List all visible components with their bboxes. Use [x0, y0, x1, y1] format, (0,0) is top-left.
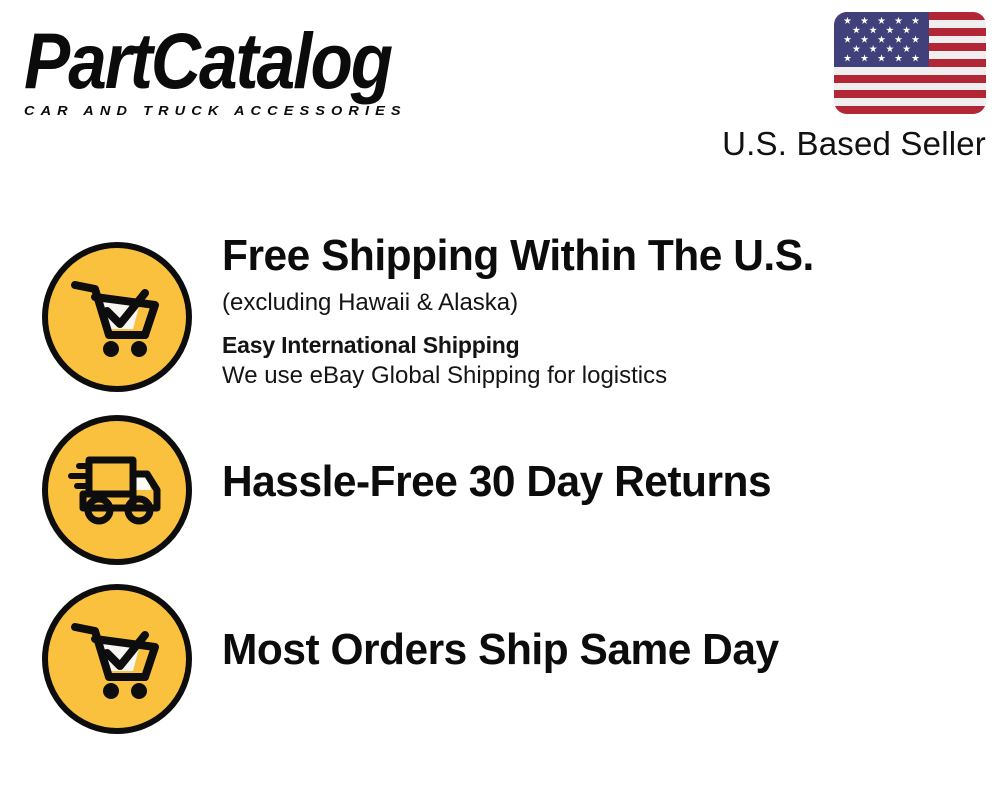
brand-wordmark: PartCatalog [24, 24, 489, 98]
feature-text-block: Free Shipping Within The U.S. (excluding… [222, 232, 980, 391]
delivery-truck-icon [42, 415, 192, 565]
feature-text-block: Hassle-Free 30 Day Returns [222, 458, 980, 506]
feature-text-block: Most Orders Ship Same Day [222, 626, 980, 674]
brand-logo[interactable]: PartCatalog CAR AND TRUCK ACCESSORIES [24, 24, 494, 120]
brand-tagline: CAR AND TRUCK ACCESSORIES [24, 104, 494, 119]
feature-row: Most Orders Ship Same Day [0, 574, 1000, 746]
features-list: Free Shipping Within The U.S. (excluding… [0, 230, 1000, 746]
feature-subline: We use eBay Global Shipping for logistic… [222, 361, 980, 391]
shopping-cart-check-icon [42, 584, 192, 734]
us-based-seller-label: U.S. Based Seller [686, 125, 986, 163]
feature-row: Hassle-Free 30 Day Returns [0, 402, 1000, 574]
feature-subline-bold: Easy International Shipping [222, 331, 980, 360]
flag-canton [834, 12, 929, 67]
us-based-seller-badge: U.S. Based Seller [686, 12, 986, 163]
us-flag-icon [834, 12, 986, 114]
shopping-cart-check-icon [42, 242, 192, 392]
feature-row: Free Shipping Within The U.S. (excluding… [0, 230, 1000, 402]
feature-headline: Free Shipping Within The U.S. [222, 232, 953, 280]
feature-headline: Hassle-Free 30 Day Returns [222, 458, 953, 506]
feature-headline: Most Orders Ship Same Day [222, 626, 953, 674]
flag-stars [839, 16, 924, 63]
page-header: PartCatalog CAR AND TRUCK ACCESSORIES [0, 0, 1000, 180]
feature-subline: (excluding Hawaii & Alaska) [222, 288, 980, 318]
